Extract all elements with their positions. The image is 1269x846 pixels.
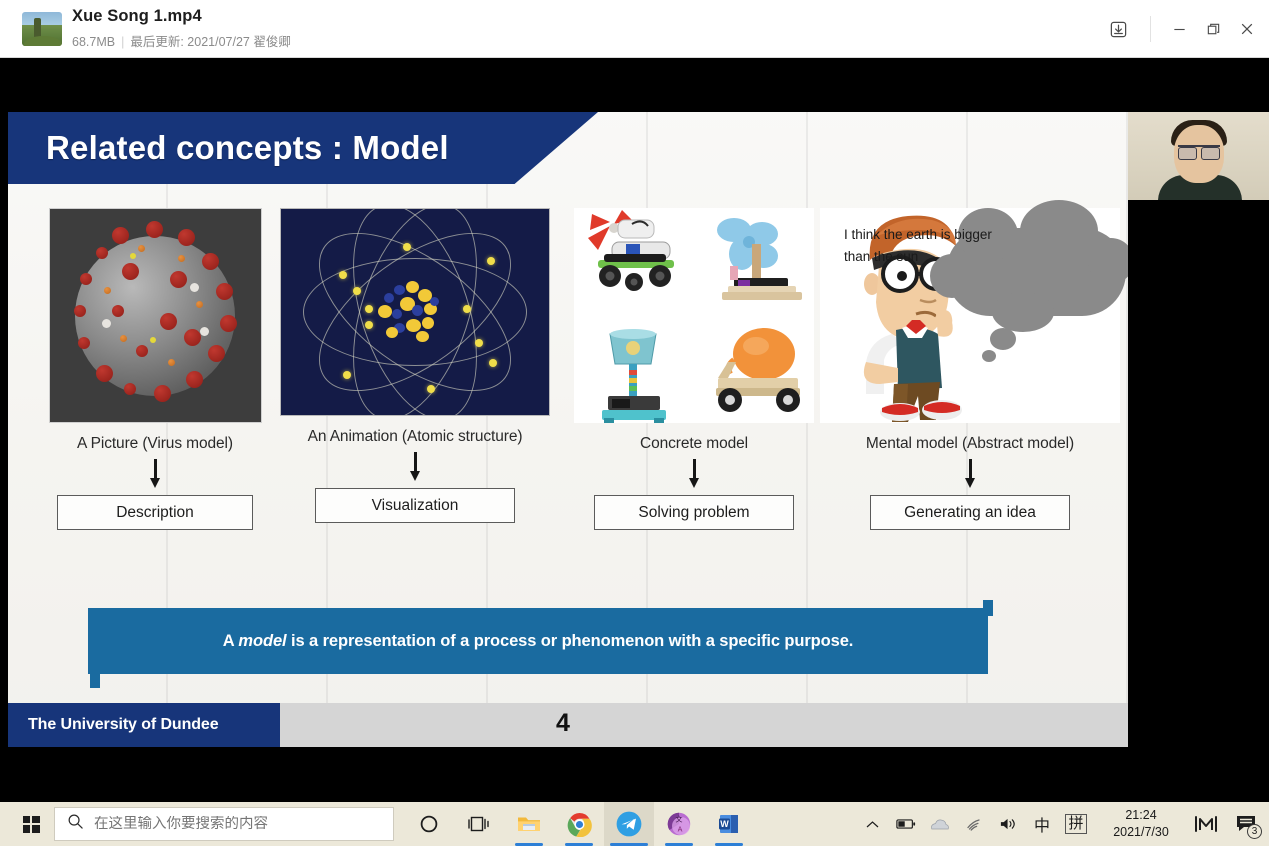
telegram-icon[interactable] <box>604 802 654 846</box>
bubble-tail <box>990 328 1016 350</box>
arrow-down-icon <box>408 452 422 482</box>
chrome-icon[interactable] <box>554 802 604 846</box>
bubble-lobe <box>1088 238 1128 284</box>
wifi-icon[interactable] <box>957 802 991 846</box>
definition-banner: A model is a representation of a process… <box>88 608 988 674</box>
caption-animation: An Animation (Atomic structure) <box>270 428 560 446</box>
cloud-icon[interactable] <box>923 802 957 846</box>
file-size: 68.7MB <box>72 35 115 49</box>
windows-logo-icon <box>23 816 40 833</box>
restore-icon[interactable] <box>1197 13 1229 45</box>
meeting-icon[interactable] <box>1189 802 1223 846</box>
webcam-person-glasses <box>1178 145 1220 156</box>
propeller-car-photo <box>574 208 694 320</box>
clock-date: 2021/7/30 <box>1093 824 1189 841</box>
close-icon[interactable] <box>1231 13 1263 45</box>
notification-count-badge: 3 <box>1247 824 1262 839</box>
banner-notch-bottom-left <box>90 672 100 688</box>
arrow-down-icon <box>687 459 701 489</box>
taskbar-app-icons: 文 A W <box>404 802 754 846</box>
university-name: The University of Dundee <box>28 716 219 734</box>
atom-image <box>280 208 550 416</box>
outcome-box-visualization: Visualization <box>315 488 515 523</box>
ime-pinyin-indicator[interactable]: 拼 <box>1059 802 1093 846</box>
slide-title-banner: Related concepts : Model <box>8 112 598 184</box>
video-player-area[interactable]: Related concepts : Model <box>0 58 1269 802</box>
speaker-icon[interactable] <box>991 802 1025 846</box>
university-brand-strip: The University of Dundee <box>8 703 280 747</box>
presenter-webcam[interactable] <box>1128 112 1269 200</box>
meta-separator: | <box>121 35 124 49</box>
window-title-bar: Xue Song 1.mp4 68.7MB|最后更新: 2021/07/27 翟… <box>0 0 1269 58</box>
taskbar-search-box[interactable] <box>54 807 394 841</box>
file-explorer-icon[interactable] <box>504 802 554 846</box>
definition-lead: A <box>223 632 239 650</box>
model-photo-grid <box>574 208 814 423</box>
caption-concrete: Concrete model <box>574 435 814 453</box>
translator-icon[interactable]: 文 A <box>654 802 704 846</box>
definition-emphasis: model <box>238 632 286 650</box>
last-modified: 最后更新: 2021/07/27 翟俊卿 <box>130 35 290 49</box>
virus-image <box>49 208 262 423</box>
definition-rest: is a representation of a process or phen… <box>287 632 854 650</box>
caption-picture: A Picture (Virus model) <box>30 435 280 453</box>
word-icon[interactable]: W <box>704 802 754 846</box>
balloon-car-photo <box>694 320 814 432</box>
clock-time: 21:24 <box>1093 807 1189 824</box>
battery-icon[interactable] <box>889 802 923 846</box>
outcome-box-solving-problem: Solving problem <box>594 495 794 530</box>
download-icon[interactable] <box>1102 13 1134 45</box>
bubble-lobe <box>992 292 1054 332</box>
arrow-down-icon <box>963 459 977 489</box>
outcome-box-description: Description <box>57 495 253 530</box>
concrete-model-photos <box>574 208 814 423</box>
svg-text:文: 文 <box>676 815 683 824</box>
presentation-slide: Related concepts : Model <box>8 112 1128 747</box>
caption-mental: Mental model (Abstract model) <box>820 435 1120 453</box>
arrow-down-icon <box>148 459 162 489</box>
minimize-icon[interactable] <box>1163 13 1195 45</box>
taskbar-clock[interactable]: 21:24 2021/7/30 <box>1093 802 1189 846</box>
file-meta: 68.7MB|最后更新: 2021/07/27 翟俊卿 <box>72 31 291 50</box>
control-divider <box>1150 16 1151 42</box>
definition-text: A model is a representation of a process… <box>223 632 854 651</box>
lamp-model-photo <box>574 320 694 432</box>
column-animation: An Animation (Atomic structure) Visualiz… <box>270 208 560 523</box>
slide-footer: The University of Dundee 4 <box>8 703 1128 747</box>
column-mental: I think the earth is bigger than the sun… <box>820 208 1120 530</box>
start-button[interactable] <box>8 802 54 846</box>
fan-model-photo <box>694 208 814 320</box>
search-input[interactable] <box>94 816 364 832</box>
task-view-icon[interactable] <box>454 802 504 846</box>
file-name-title: Xue Song 1.mp4 <box>72 7 202 26</box>
atom-animation <box>270 208 560 416</box>
virus-photo <box>30 208 280 423</box>
bubble-tail <box>982 350 996 362</box>
video-thumbnail <box>22 12 62 46</box>
column-picture: A Picture (Virus model) Description <box>30 208 280 530</box>
slide-title: Related concepts : Model <box>46 129 449 167</box>
system-tray: 中 拼 21:24 2021/7/30 3 <box>855 802 1269 846</box>
search-icon <box>67 813 84 835</box>
slide-page-number: 4 <box>556 709 570 738</box>
thinking-boy-illustration: I think the earth is bigger than the sun <box>820 208 1120 423</box>
cortana-icon[interactable] <box>404 802 454 846</box>
atom-nucleus <box>372 279 458 345</box>
column-concrete: Concrete model Solving problem <box>574 208 814 530</box>
notification-center-icon[interactable]: 3 <box>1223 802 1269 846</box>
chevron-up-icon[interactable] <box>855 802 889 846</box>
ime-mode-indicator[interactable]: 中 <box>1025 802 1059 846</box>
svg-text:A: A <box>678 826 683 834</box>
thought-bubble-text: I think the earth is bigger than the sun <box>844 224 1004 268</box>
windows-taskbar: 文 A W <box>0 802 1269 846</box>
outcome-box-generating-an-idea: Generating an idea <box>870 495 1070 530</box>
svg-text:W: W <box>720 819 729 829</box>
